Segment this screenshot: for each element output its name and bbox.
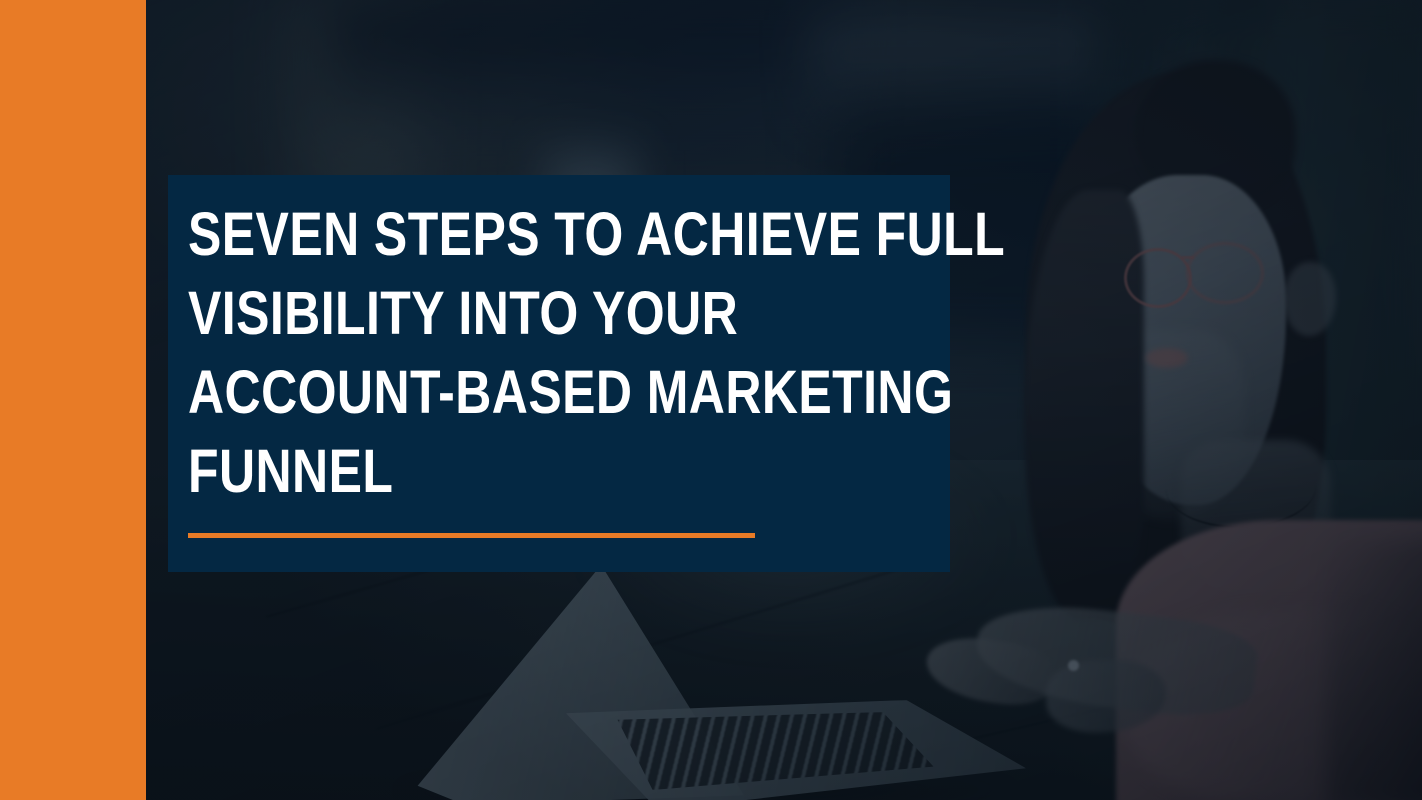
title-line-1: SEVEN STEPS TO ACHIEVE FULL [188,195,778,274]
title-line-4: FUNNEL [188,432,778,511]
title-line-3: ACCOUNT-BASED MARKETING [188,353,778,432]
title-card-panel: SEVEN STEPS TO ACHIEVE FULL VISIBILITY I… [168,175,950,572]
title-underline-rule [188,533,755,538]
title-line-2: VISIBILITY INTO YOUR [188,274,778,353]
left-orange-accent-bar [0,0,146,800]
title-card-canvas: SEVEN STEPS TO ACHIEVE FULL VISIBILITY I… [0,0,1422,800]
page-title: SEVEN STEPS TO ACHIEVE FULL VISIBILITY I… [188,195,908,511]
